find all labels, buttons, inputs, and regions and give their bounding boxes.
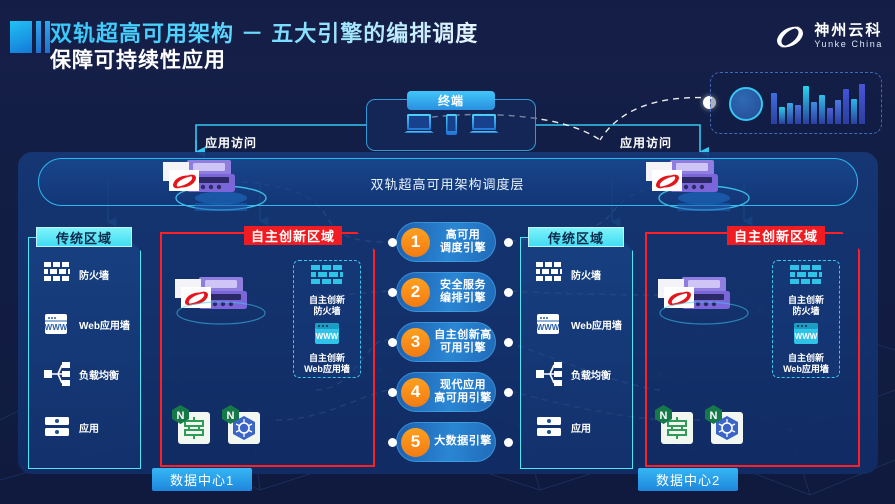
engine-connector-dot-left [388, 238, 397, 247]
firewall-brick-icon [789, 264, 823, 288]
dc2-traditional-item-label: 应用 [571, 420, 591, 435]
engine-item-4[interactable]: 4现代应用高可用引擎 [396, 372, 496, 412]
chart-bar [851, 99, 857, 124]
dc1-appliance-1 [163, 158, 239, 196]
laptop-icon [467, 112, 501, 138]
dc2-sub-waf-line1: 自主创新 [788, 353, 824, 363]
dc1-sub-waf-line2: Web应用墙 [304, 364, 350, 374]
engine-connector-dot-right [504, 388, 513, 397]
svg-text:WWW: WWW [316, 332, 339, 341]
engine-number-badge: 2 [401, 278, 430, 307]
bar-chart-icon [771, 84, 871, 124]
engine-connector-dot-right [504, 288, 513, 297]
engine-connector-dot-left [388, 388, 397, 397]
dc2-k8s-badge-icon: N [705, 405, 722, 424]
load-balance-icon [44, 362, 70, 386]
dc1-sub-waf: WWW 自主创新Web应用墙 [293, 322, 361, 376]
engine-number-badge: 3 [401, 328, 430, 357]
svg-text:N: N [660, 410, 668, 422]
application-server-icon [44, 415, 70, 439]
dc1-traditional-zone-tag: 传统区域 [36, 227, 132, 247]
dc2-traditional-item-1: 防火墙 [536, 262, 601, 286]
dc2-sub-firewall-line2: 防火墙 [792, 306, 819, 316]
svg-text:N: N [710, 410, 718, 422]
svg-text:WWW: WWW [45, 323, 68, 332]
svg-text:N: N [177, 410, 185, 422]
engine-label: 自主创新高可用引擎 [430, 329, 496, 355]
engine-label: 大数据引擎 [430, 435, 496, 448]
dc1-traditional-item-label: Web应用墙 [79, 317, 130, 332]
chart-bar [843, 89, 849, 124]
dc2-traditional-item-label: 负载均衡 [571, 367, 611, 382]
dc2-traditional-item-2: WWWWeb应用墙 [536, 312, 622, 336]
firewall-brick-icon [44, 262, 70, 286]
engine-item-2[interactable]: 2安全服务编排引擎 [396, 272, 496, 312]
engine-item-3[interactable]: 3自主创新高可用引擎 [396, 322, 496, 362]
engine-connector-dot-right [504, 338, 513, 347]
monitoring-widget [710, 72, 882, 134]
dc2-traditional-item-label: 防火墙 [571, 267, 601, 282]
laptop-icon [402, 112, 436, 138]
svg-text:WWW: WWW [795, 332, 818, 341]
header-accent-bars [10, 21, 50, 53]
dc1-traditional-item-1: 防火墙 [44, 262, 109, 286]
chart-bar [811, 102, 817, 124]
svg-text:N: N [227, 410, 235, 422]
dc2-traditional-item-3: 负载均衡 [536, 362, 611, 386]
chart-bar [779, 107, 785, 124]
dc1-sub-firewall-line2: 防火墙 [313, 306, 340, 316]
dc2-sub-firewall: 自主创新防火墙 [772, 264, 840, 318]
dc2-sub-waf: WWW 自主创新Web应用墙 [772, 322, 840, 376]
scheduling-layer-label: 双轨超高可用架构调度层 [0, 174, 895, 193]
engine-number-badge: 4 [401, 378, 430, 407]
engine-label: 安全服务编排引擎 [430, 279, 496, 305]
dc1-traditional-item-3: 负载均衡 [44, 362, 119, 386]
engine-label: 高可用调度引擎 [430, 229, 496, 255]
waf-www-icon: WWW [314, 322, 340, 346]
slide-canvas: 双轨超高可用架构 － 五大引擎的编排调度 保障可持续性应用 神州云科 Yunke… [0, 0, 895, 504]
dc1-traditional-item-label: 负载均衡 [79, 367, 119, 382]
chart-bar [795, 105, 801, 124]
donut-chart-icon [729, 87, 763, 121]
chart-bar [787, 103, 793, 124]
application-server-icon [536, 415, 562, 439]
engine-number-badge: 1 [401, 228, 430, 257]
access-label-left: 应用访问 [205, 134, 257, 151]
dc2-traditional-item-label: Web应用墙 [571, 317, 622, 332]
brand-logo: 神州云科 Yunke China [773, 22, 883, 52]
dc2-appliance-1 [646, 158, 722, 196]
dc2-traditional-zone-tag: 传统区域 [528, 227, 624, 247]
chart-bar [859, 84, 865, 124]
dc2-sub-waf-line2: Web应用墙 [783, 364, 829, 374]
firewall-brick-icon [536, 262, 562, 286]
dc2-device-podium-2 [658, 300, 750, 326]
load-balance-icon [536, 362, 562, 386]
header-bar: 双轨超高可用架构 － 五大引擎的编排调度 保障可持续性应用 神州云科 Yunke… [0, 0, 895, 72]
dc1-innovation-zone-tag: 自主创新区域 [244, 226, 342, 245]
dc2-traditional-item-4: 应用 [536, 415, 591, 439]
access-label-right: 应用访问 [620, 134, 672, 151]
page-title-line2: 保障可持续性应用 [50, 44, 226, 74]
dc2-innovation-zone-tag: 自主创新区域 [727, 226, 825, 245]
chart-bar [819, 95, 825, 124]
dc1-traditional-item-label: 应用 [79, 420, 99, 435]
chart-bar [803, 86, 809, 124]
terminal-tag: 终端 [407, 91, 495, 110]
engine-connector-dot-left [388, 288, 397, 297]
engine-connector-dot-left [388, 338, 397, 347]
dc2-nginx-badge-icon: N [655, 405, 672, 424]
engine-connector-dot-left [388, 438, 397, 447]
engine-connector-dot-right [504, 438, 513, 447]
waf-www-icon: WWW [536, 312, 562, 336]
chart-bar [827, 108, 833, 124]
chart-bar [771, 93, 777, 124]
dc1-k8s-badge-icon: N [222, 405, 239, 424]
dc2-sub-firewall-line1: 自主创新 [788, 295, 824, 305]
waf-www-icon: WWW [44, 312, 70, 336]
dc1-sub-waf-line1: 自主创新 [309, 353, 345, 363]
dc1-sub-firewall-line1: 自主创新 [309, 295, 345, 305]
firewall-brick-icon [310, 264, 344, 288]
engine-item-5[interactable]: 5大数据引擎 [396, 422, 496, 462]
brand-name-en: Yunke China [814, 39, 883, 51]
waf-www-icon: WWW [793, 322, 819, 346]
dc1-sub-firewall: 自主创新防火墙 [293, 264, 361, 318]
swirl-logo-icon [773, 22, 807, 52]
dc2-label: 数据中心2 [638, 468, 738, 491]
phone-icon [445, 112, 458, 138]
dc1-traditional-item-2: WWWWeb应用墙 [44, 312, 130, 336]
chart-bar [835, 100, 841, 124]
engine-number-badge: 5 [401, 428, 430, 457]
engine-label: 现代应用高可用引擎 [430, 379, 496, 405]
dc1-traditional-item-4: 应用 [44, 415, 99, 439]
dc1-traditional-item-label: 防火墙 [79, 267, 109, 282]
accent-bar-small [36, 21, 41, 53]
brand-name-cn: 神州云科 [814, 23, 883, 39]
svg-text:WWW: WWW [537, 323, 560, 332]
dc1-device-podium-2 [175, 300, 267, 326]
engine-connector-dot-right [504, 238, 513, 247]
dc1-label: 数据中心1 [152, 468, 252, 491]
dc1-nginx-badge-icon: N [172, 405, 189, 424]
engine-item-1[interactable]: 1高可用调度引擎 [396, 222, 496, 262]
accent-bar-large [10, 21, 32, 53]
